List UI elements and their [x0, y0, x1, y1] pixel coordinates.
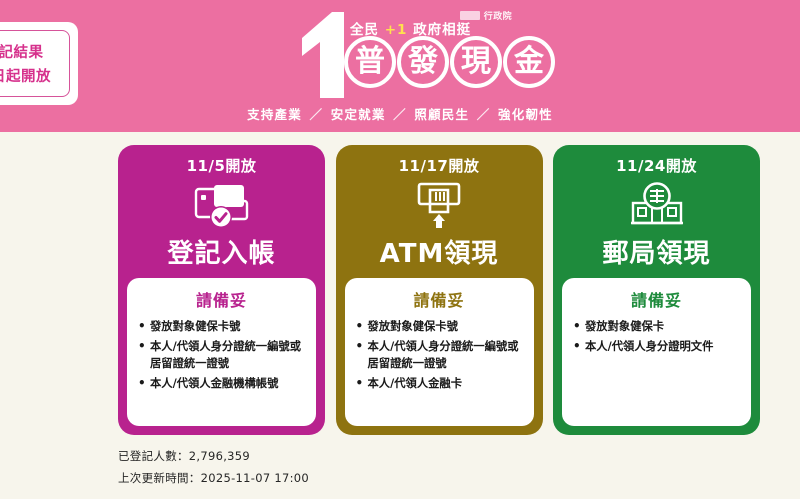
registered-count-line: 已登記人數：2,796,359: [118, 446, 309, 468]
slogan-3: 照顧民生: [414, 107, 469, 122]
panel-heading: 請備妥: [355, 287, 524, 311]
card-requirements-panel: 請備妥 發放對象健保卡 本人/代領人身分證明文件: [562, 278, 751, 426]
list-item: 發放對象健保卡號: [355, 318, 524, 336]
header-banner: 記結果 日起開放 行政院 全民 +1 政府相挺 普 發 現 金 支持產業 ／ 安…: [0, 0, 800, 132]
card-requirements-panel: 請備妥 發放對象健保卡號 本人/代領人身分證統一編號或居留證統一證號 本人/代領…: [345, 278, 534, 426]
slogan-1: 支持產業: [247, 107, 302, 122]
registration-notice-box[interactable]: 記結果 日起開放: [0, 22, 78, 105]
slogan-2: 安定就業: [331, 107, 386, 122]
card-open-date: 11/5開放: [187, 155, 257, 176]
card-open-date: 11/17開放: [399, 155, 480, 176]
card-atm-withdrawal[interactable]: 11/17開放 ATM領現 請備妥 發放對象健保卡號 本人/代領人身分證統一編號…: [336, 145, 543, 435]
list-item: 本人/代領人身分證統一編號或居留證統一證號: [355, 338, 524, 373]
slogan-4: 強化韌性: [498, 107, 553, 122]
circled-characters: 普 發 現 金: [344, 36, 555, 88]
panel-heading: 請備妥: [572, 287, 741, 311]
circled-char-2: 發: [397, 36, 449, 88]
card-title: 登記入帳: [167, 233, 275, 270]
last-updated-line: 上次更新時間：2025-11-07 17:00: [118, 468, 309, 490]
notice-line-1: 記結果: [0, 41, 44, 62]
slogan-separator-3: ／: [475, 107, 493, 122]
slogan-row: 支持產業 ／ 安定就業 ／ 照顧民生 ／ 強化韌性: [0, 104, 800, 123]
requirements-list: 發放對象健保卡號 本人/代領人身分證統一編號或居留證統一證號 本人/代領人金融卡: [355, 318, 524, 392]
card-open-date: 11/24開放: [616, 155, 697, 176]
slogan-separator-2: ／: [391, 107, 409, 122]
post-office-icon: [629, 179, 685, 231]
list-item: 本人/代領人金融機構帳號: [137, 375, 306, 393]
campaign-tagline: 全民 +1 政府相挺: [350, 18, 471, 38]
circled-char-4: 金: [503, 36, 555, 88]
list-item: 發放對象健保卡: [572, 318, 741, 336]
panel-heading: 請備妥: [137, 287, 306, 311]
card-registration-deposit[interactable]: 11/5開放 登記入帳 請備妥 發放對象健保卡號 本人/代領人身分證統一編號或居…: [118, 145, 325, 435]
payout-method-cards: 11/5開放 登記入帳 請備妥 發放對象健保卡號 本人/代領人身分證統一編號或居…: [118, 145, 760, 435]
card-post-office-withdrawal[interactable]: 11/24開放 郵局領現 請備妥 發放對象健保卡 本人/代領人身分證明文件: [553, 145, 760, 435]
list-item: 本人/代領人身分證統一編號或居留證統一證號: [137, 338, 306, 373]
list-item: 本人/代領人身分證明文件: [572, 338, 741, 356]
slogan-separator-1: ／: [308, 107, 326, 122]
campaign-logo: 全民 +1 政府相挺 普 發 現 金: [296, 8, 556, 104]
registration-notice-inner: 記結果 日起開放: [0, 30, 70, 97]
atm-cash-icon: [413, 179, 465, 231]
requirements-list: 發放對象健保卡號 本人/代領人身分證統一編號或居留證統一證號 本人/代領人金融機…: [137, 318, 306, 392]
notice-line-2: 日起開放: [0, 65, 51, 86]
circled-char-1: 普: [344, 36, 396, 88]
circled-char-3: 現: [450, 36, 502, 88]
devices-check-icon: [194, 179, 250, 231]
card-title: ATM領現: [380, 233, 499, 270]
requirements-list: 發放對象健保卡 本人/代領人身分證明文件: [572, 318, 741, 355]
card-requirements-panel: 請備妥 發放對象健保卡號 本人/代領人身分證統一編號或居留證統一證號 本人/代領…: [127, 278, 316, 426]
status-block: 已登記人數：2,796,359 上次更新時間：2025-11-07 17:00: [118, 446, 309, 490]
list-item: 本人/代領人金融卡: [355, 375, 524, 393]
list-item: 發放對象健保卡號: [137, 318, 306, 336]
card-title: 郵局領現: [602, 233, 710, 270]
